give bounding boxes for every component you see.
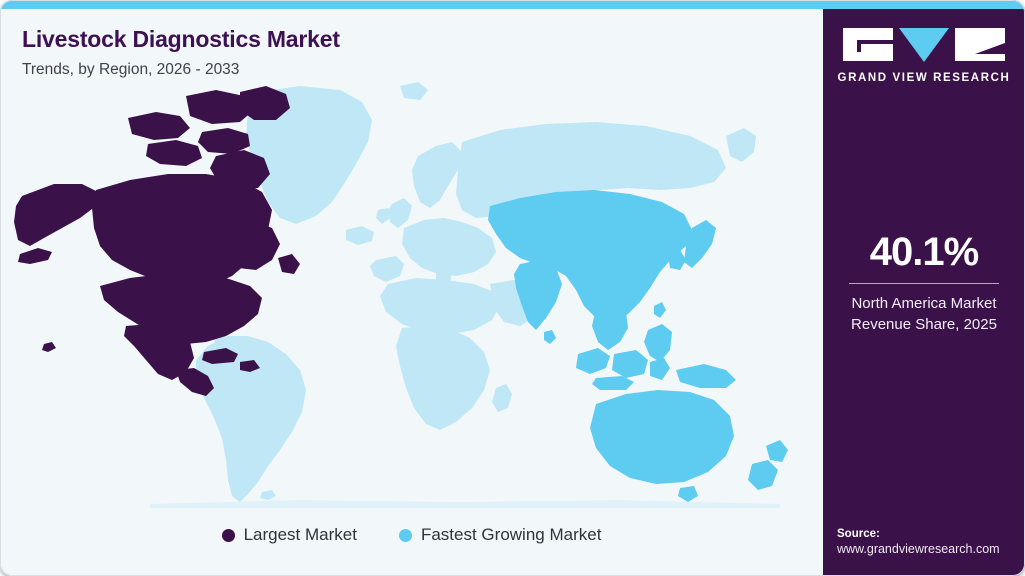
brand-panel: GRAND VIEW RESEARCH 40.1% North America … [823, 0, 1025, 576]
legend: Largest Market Fastest Growing Market [0, 525, 823, 545]
infographic-card: Livestock Diagnostics Market Trends, by … [0, 0, 1025, 576]
brand-logo: GRAND VIEW RESEARCH [823, 28, 1025, 84]
legend-label-largest-market: Largest Market [244, 525, 357, 545]
world-map-svg [0, 78, 823, 508]
logo-letter-g-icon [843, 28, 893, 61]
legend-item-largest-market: Largest Market [222, 525, 357, 545]
stat-block: 40.1% North America Market Revenue Share… [823, 232, 1025, 335]
legend-label-fastest-growing-market: Fastest Growing Market [421, 525, 601, 545]
source-block: Source: www.grandviewresearch.com [837, 528, 1023, 556]
stat-divider [849, 283, 999, 284]
dot-icon [222, 529, 235, 542]
title-group: Livestock Diagnostics Market Trends, by … [22, 26, 340, 79]
source-label: Source: [837, 528, 1023, 540]
top-accent-bar [0, 0, 1025, 9]
logo-letter-r-icon [955, 28, 1005, 61]
legend-item-fastest-growing-market: Fastest Growing Market [399, 525, 601, 545]
stat-value: 40.1% [823, 232, 1025, 272]
page-subtitle: Trends, by Region, 2026 - 2033 [22, 61, 340, 79]
world-map [0, 78, 823, 508]
map-panel: Livestock Diagnostics Market Trends, by … [0, 0, 823, 576]
stat-caption-line2: Revenue Share, 2025 [823, 314, 1025, 335]
source-url[interactable]: www.grandviewresearch.com [837, 542, 1023, 556]
page-title: Livestock Diagnostics Market [22, 26, 340, 53]
logo-letter-v-triangle-icon [899, 28, 949, 62]
dot-icon [399, 529, 412, 542]
gvr-logo-mark [823, 28, 1025, 63]
brand-name: GRAND VIEW RESEARCH [823, 72, 1025, 84]
stat-caption-line1: North America Market [823, 293, 1025, 314]
